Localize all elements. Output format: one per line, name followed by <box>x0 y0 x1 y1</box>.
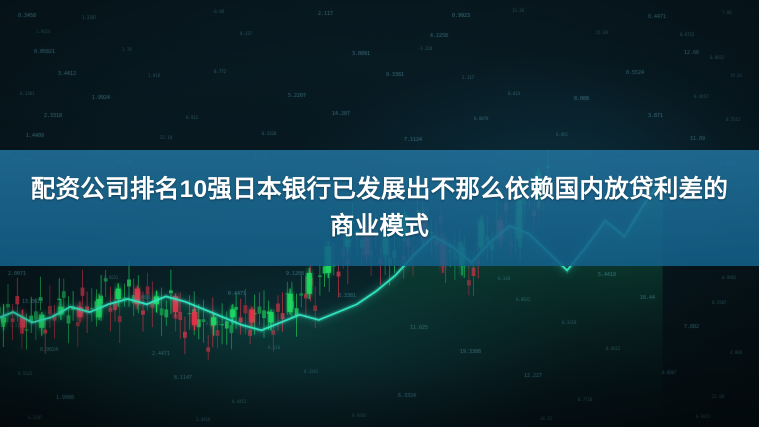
candle <box>104 270 108 297</box>
candle <box>258 293 262 326</box>
candle <box>318 263 322 296</box>
banner-image: 0.34581.2207-0.882.1170.992313.200.44717… <box>0 0 759 427</box>
page-title: 配资公司排名10强日本银行已发展出不那么依赖国内放贷利差的商业模式 <box>22 171 737 245</box>
page-title-text: 配资公司排名10强日本银行已发展出不那么依赖国内放贷利差的商业模式 <box>31 176 728 240</box>
candle <box>81 270 85 305</box>
candle <box>299 275 303 307</box>
title-overlay-band: 配资公司排名10强日本银行已发展出不那么依赖国内放贷利差的商业模式 <box>0 150 759 266</box>
candle <box>39 277 43 311</box>
candle <box>337 262 341 297</box>
